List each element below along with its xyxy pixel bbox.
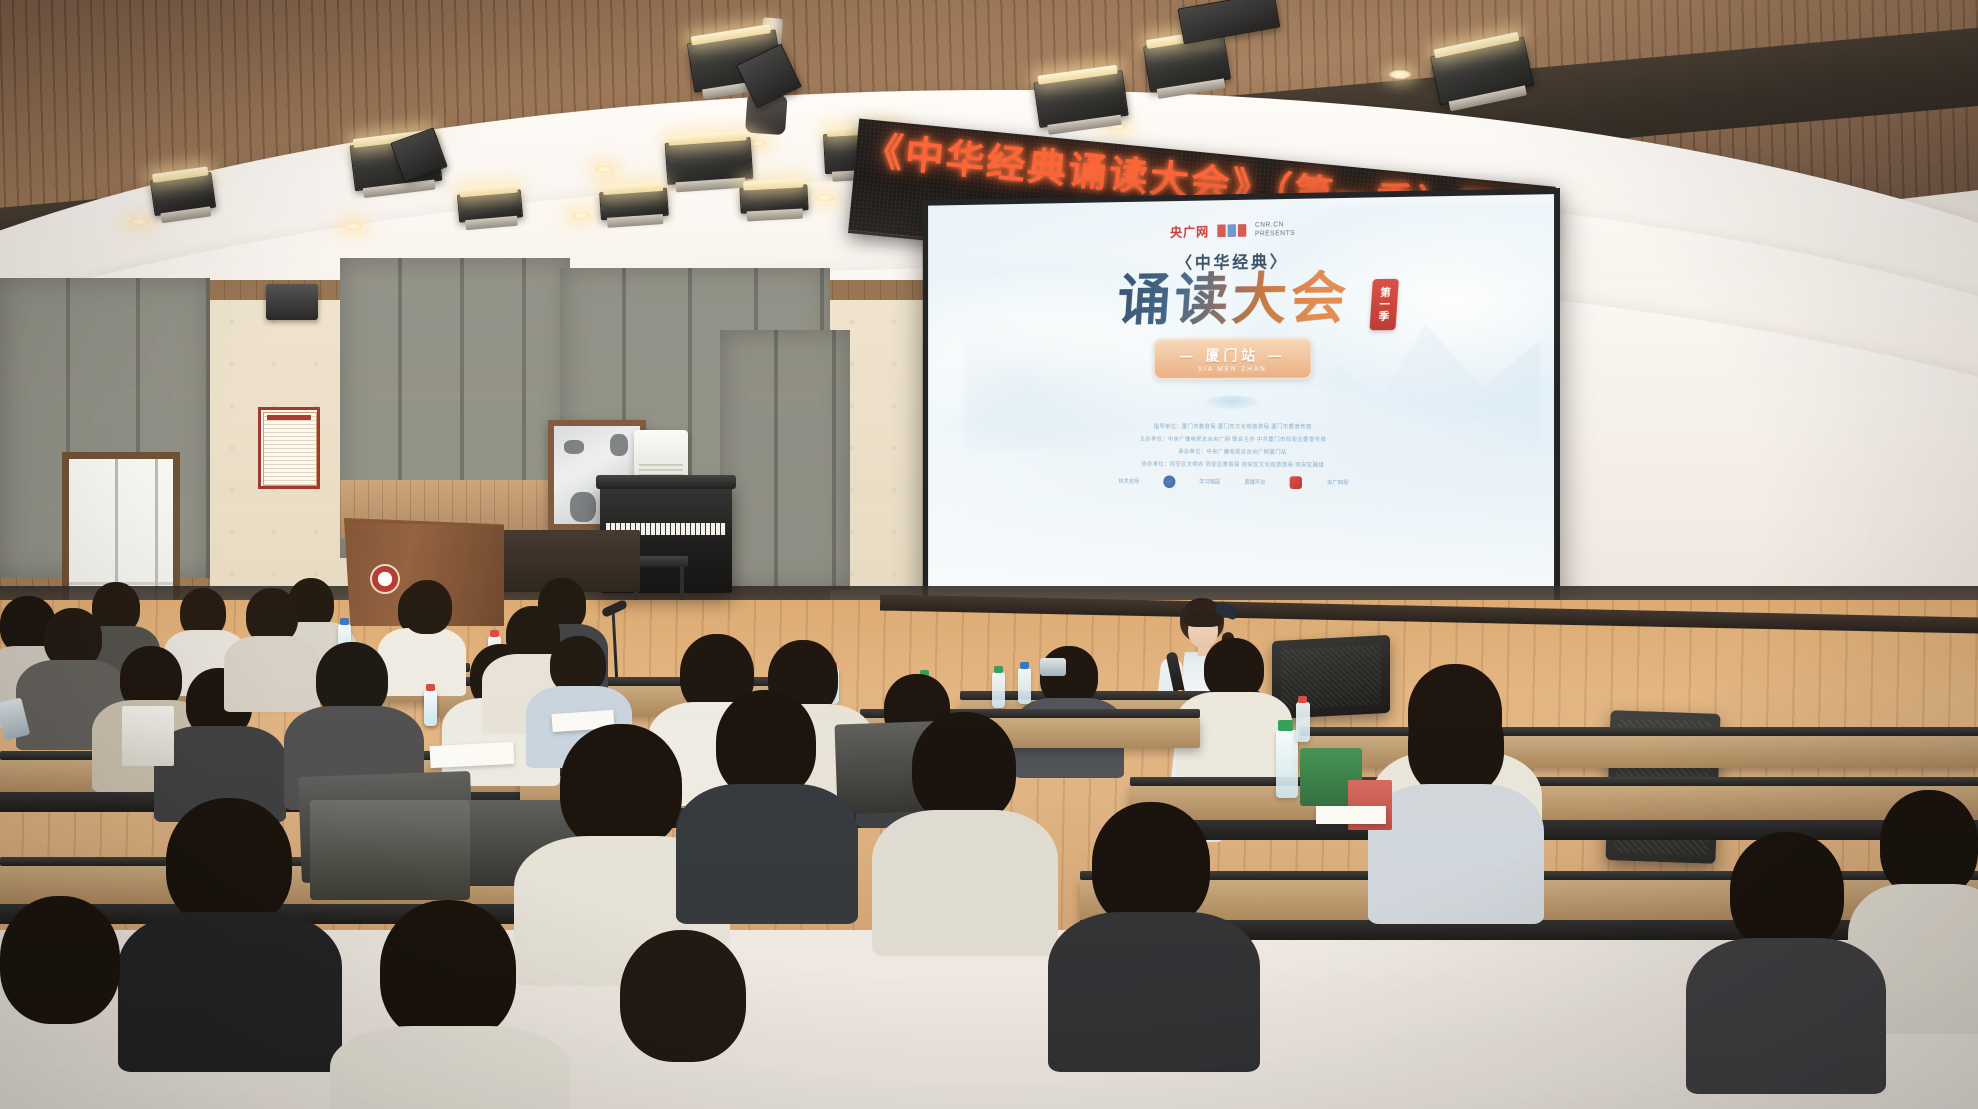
stage-light-fixture	[150, 172, 216, 216]
audience-head	[1204, 638, 1264, 700]
audience-head	[620, 930, 746, 1062]
credit-line: 协办单位：同安区文明办 同安区教育局 同安区文化和旅游局 同安区融媒	[970, 458, 1508, 473]
season-seal: 第一季	[1369, 279, 1398, 330]
notebook-paper	[1316, 806, 1386, 824]
audience-body	[224, 636, 320, 712]
slide-sponsor-logos: 技术支持 学习强国 直播平台 央广网视	[1118, 475, 1348, 489]
framed-notice-poster	[258, 407, 320, 489]
cnr-presents-label: CNR.CN PRESENTS	[1255, 221, 1295, 239]
water-bottle	[1018, 668, 1031, 704]
audience-head	[1408, 692, 1504, 796]
tablet-device[interactable]	[1040, 658, 1066, 676]
slide-title-main: 诵读大会 第一季	[1115, 270, 1351, 330]
ink-boat-illustration	[1205, 395, 1259, 410]
ceiling-downlight	[592, 164, 618, 175]
tech-support-label: 技术支持	[1118, 477, 1139, 485]
presentation-screen: 央广网 CNR.CN PRESENTS 〈中华经典〉 诵读大会 第一季 — 厦门…	[923, 188, 1560, 620]
audience-body	[1368, 784, 1544, 924]
slide-credits: 指导单位：厦门市教育局 厦门市文化和旅游局 厦门市委宣传部 主办单位：中央广播电…	[970, 421, 1508, 473]
wall-speaker	[266, 284, 318, 320]
auditorium-photo: 《中华经典诵读大会》（第一季）厦门站（同安区）线下甄选 央广网 CNR.CN P…	[0, 0, 1978, 1109]
audience-head	[0, 896, 120, 1024]
audience-body	[872, 810, 1058, 956]
ceiling-downlight	[1387, 69, 1413, 80]
acoustic-panel-wall	[720, 330, 850, 590]
audience-body	[676, 784, 858, 924]
stage-light-fixture	[457, 189, 523, 222]
handbag	[122, 706, 174, 766]
audience-body	[378, 628, 466, 696]
audience-head	[166, 798, 292, 928]
audience-head	[44, 608, 102, 668]
station-name-pinyin: XIA MEN ZHAN	[1179, 366, 1285, 373]
stage-monitor-speaker	[1272, 635, 1390, 719]
stage-light-fixture	[1033, 70, 1129, 128]
cnr-media-icon	[1290, 476, 1302, 489]
cnr-logo-cn: 央广网	[1170, 222, 1209, 241]
tech-support-brand: 学习强国	[1199, 478, 1220, 486]
audience-body	[1686, 938, 1886, 1094]
audience-head	[1880, 790, 1978, 898]
audience-head	[402, 580, 452, 634]
slide-brand-row: 央广网 CNR.CN PRESENTS	[1170, 220, 1295, 240]
stage-light-fixture	[599, 188, 669, 221]
xuexiqiangguo-icon	[1163, 475, 1175, 488]
audience-head	[1730, 832, 1844, 952]
water-bottle	[1296, 702, 1310, 742]
water-bottle	[992, 672, 1005, 708]
broadcast-platform-label: 直播平台	[1244, 478, 1265, 486]
school-emblem	[370, 564, 400, 594]
audience-body	[1048, 912, 1260, 1072]
audience-head	[716, 690, 816, 798]
stage-light-fixture	[739, 184, 808, 214]
audience-head	[912, 712, 1016, 824]
ceiling-downlight	[812, 192, 838, 203]
water-bottle	[1276, 730, 1298, 798]
audience-head	[560, 724, 682, 850]
water-bottle	[424, 690, 437, 726]
audience-body	[118, 912, 342, 1072]
audience-body	[330, 1026, 570, 1109]
audience-head	[1092, 802, 1210, 928]
broadcast-platform-brand: 央广网视	[1327, 479, 1348, 487]
audience-head	[380, 900, 516, 1042]
ceiling-downlight	[126, 216, 152, 227]
stage-light-fixture	[1430, 37, 1534, 106]
station-badge: — 厦门站 — XIA MEN ZHAN	[1153, 338, 1312, 380]
notebook-paper	[429, 742, 514, 768]
ceiling-downlight	[340, 221, 366, 232]
audience-desk-row	[1130, 786, 1978, 822]
station-name-cn: — 厦门站 —	[1179, 345, 1285, 366]
chair-back[interactable]	[310, 800, 470, 900]
audience-head	[1040, 646, 1098, 706]
ceiling-downlight	[568, 210, 594, 221]
stage-light-fixture	[665, 137, 754, 185]
cnr-logo-mark	[1217, 224, 1246, 237]
